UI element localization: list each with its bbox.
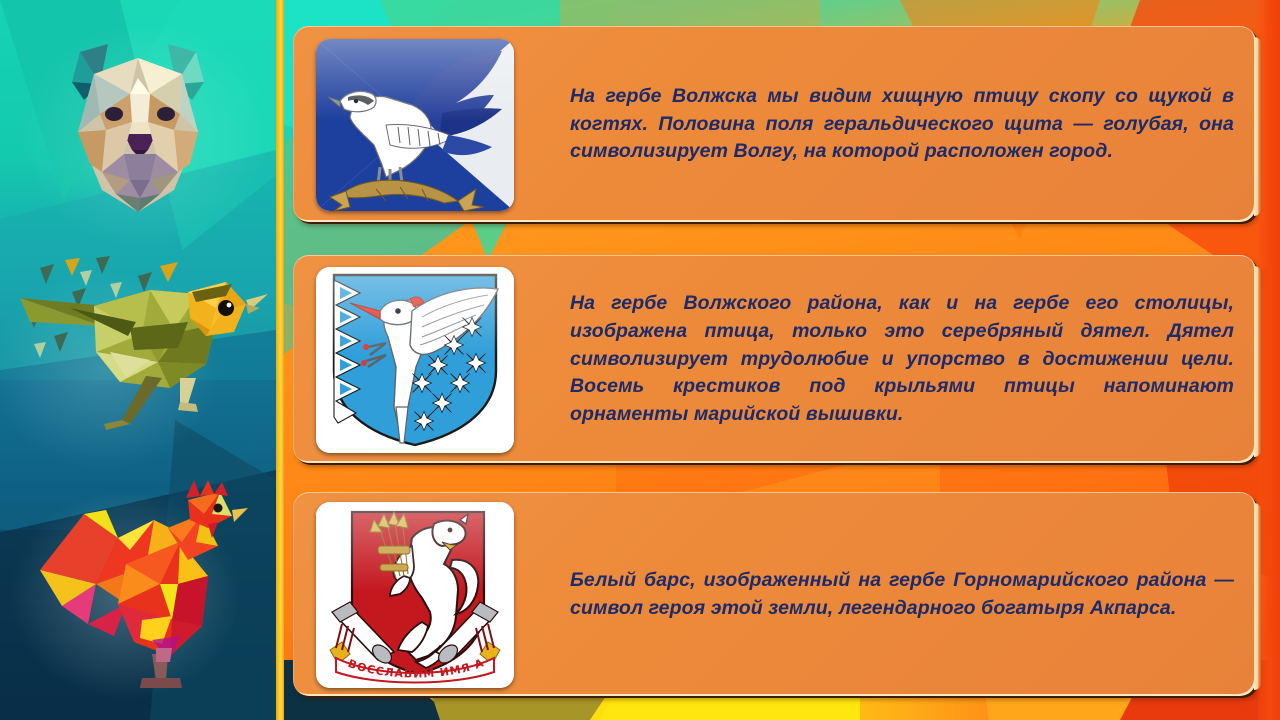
card-text-volzhsk: На гербе Волжска мы видим хищную птицу с… <box>570 83 1234 166</box>
coat-of-arms-volzhsk[interactable] <box>316 39 514 211</box>
content-card-gornomariysky-district[interactable]: ВОССЛАВИМ ИМЯ АКПАРСА Белый барс, изобра… <box>293 492 1256 696</box>
content-card-volzhsk[interactable]: На гербе Волжска мы видим хищную птицу с… <box>293 26 1256 222</box>
card-text-volzhsky-district: На гербе Волжского района, как и на герб… <box>570 290 1234 428</box>
low-poly-bear-head <box>38 22 238 222</box>
low-poly-rooster <box>22 480 252 700</box>
content-card-volzhsky-district[interactable]: На гербе Волжского района, как и на герб… <box>293 255 1256 463</box>
card-text-gornomariysky-district: Белый барс, изображенный на гербе Горном… <box>570 567 1234 622</box>
coat-of-arms-gornomariysky-district[interactable]: ВОССЛАВИМ ИМЯ АКПАРСА <box>316 502 514 688</box>
right-edge-stripe <box>1258 0 1280 720</box>
coat-of-arms-volzhsky-district[interactable] <box>316 267 514 453</box>
accent-stripe <box>276 0 284 720</box>
decor-panel <box>0 0 276 720</box>
low-poly-bird <box>10 252 270 452</box>
slide-root: На гербе Волжска мы видим хищную птицу с… <box>0 0 1280 720</box>
